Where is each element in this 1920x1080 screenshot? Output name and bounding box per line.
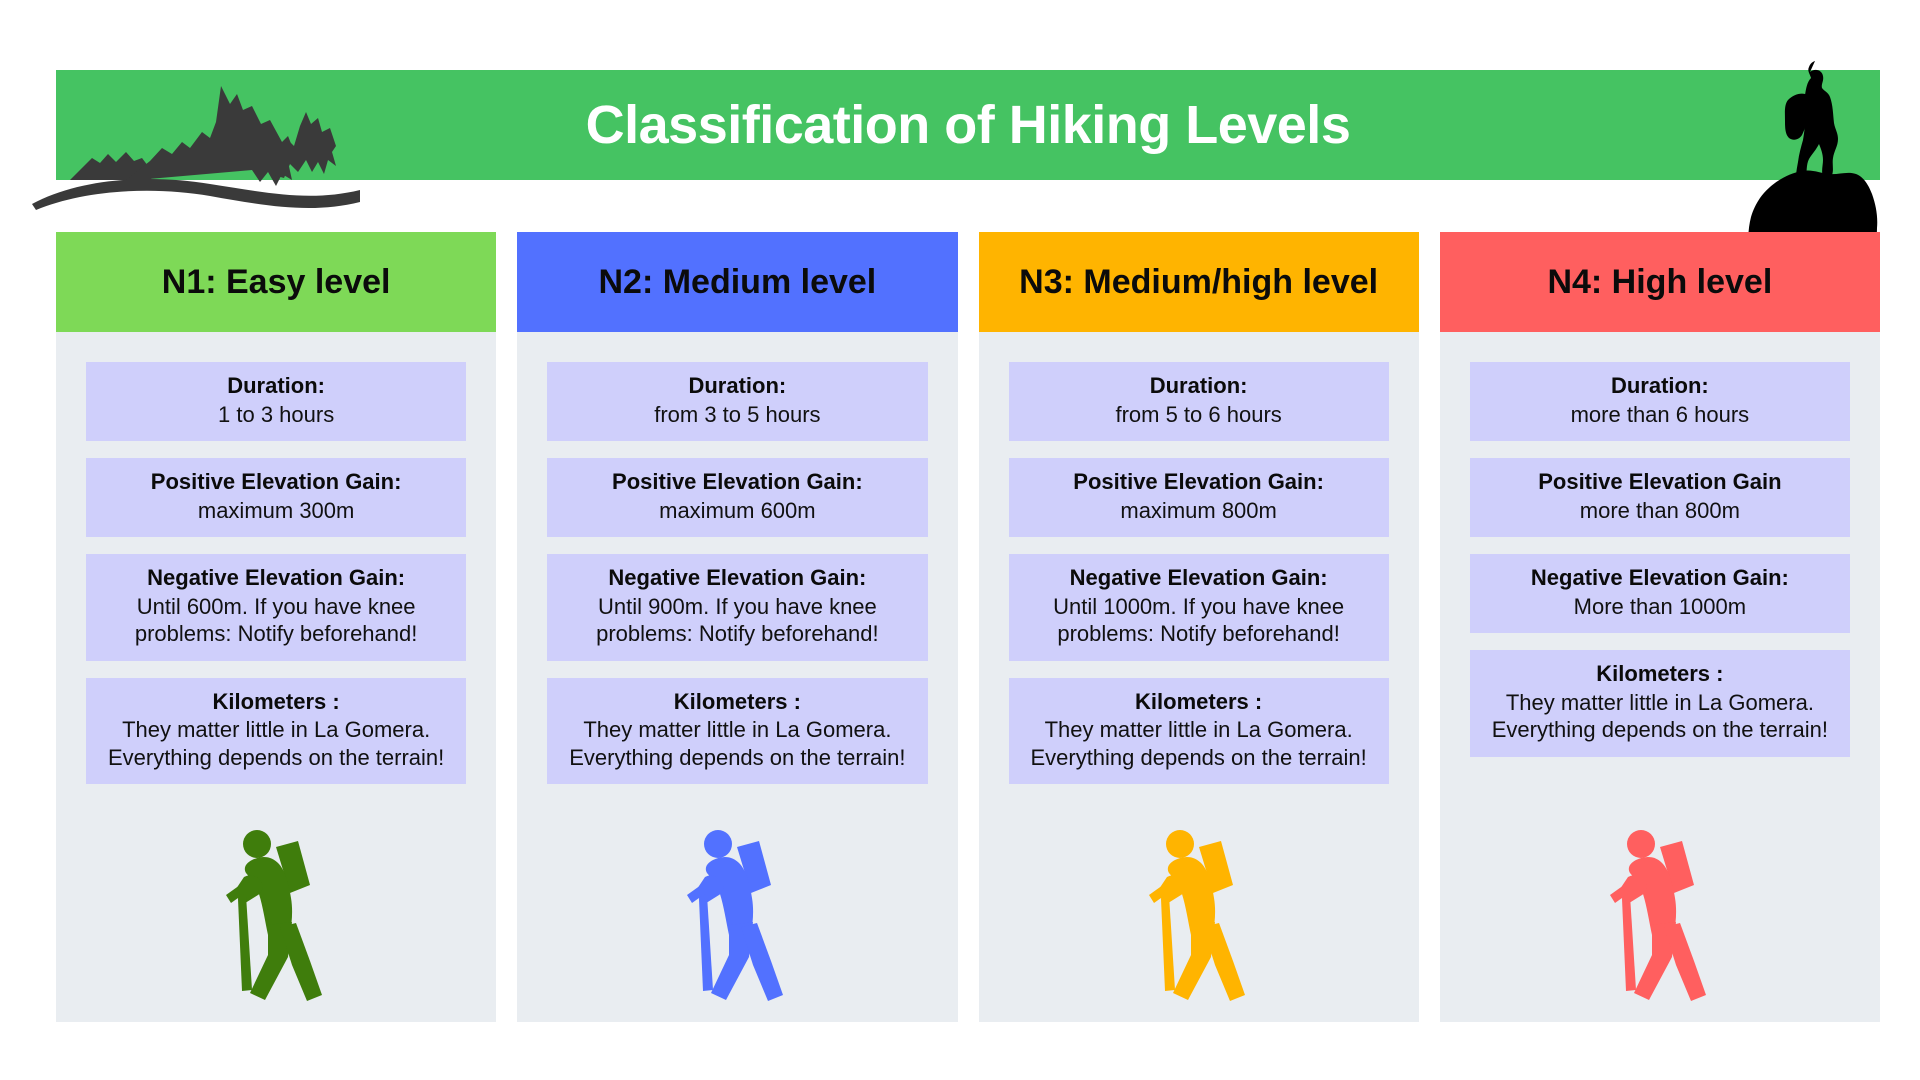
hiking-levels-infographic: Classification of Hiking Levels N1: Easy… (0, 0, 1920, 1080)
card-title: Positive Elevation Gain: (1019, 469, 1379, 496)
info-card-kilometers: Kilometers : They matter little in La Go… (86, 678, 466, 784)
header-band: Classification of Hiking Levels (56, 70, 1880, 180)
info-card-positive-elevation: Positive Elevation Gain: maximum 800m (1009, 458, 1389, 537)
card-title: Duration: (96, 373, 456, 400)
level-column-n1: N1: Easy level Duration: 1 to 3 hours Po… (56, 232, 496, 1022)
info-card-kilometers: Kilometers : They matter little in La Go… (547, 678, 927, 784)
card-text: Until 600m. If you have knee problems: N… (96, 593, 456, 648)
card-text: maximum 300m (96, 497, 456, 524)
card-text: 1 to 3 hours (96, 401, 456, 428)
card-text: maximum 800m (1019, 497, 1379, 524)
column-body-n4: Duration: more than 6 hours Positive Ele… (1440, 332, 1880, 1022)
card-text: Until 900m. If you have knee problems: N… (557, 593, 917, 648)
info-card-kilometers: Kilometers : They matter little in La Go… (1470, 650, 1850, 756)
info-card-positive-elevation: Positive Elevation Gain more than 800m (1470, 458, 1850, 537)
hiker-walking-icon (216, 829, 336, 1004)
card-text: Until 1000m. If you have knee problems: … (1019, 593, 1379, 648)
card-text: more than 6 hours (1480, 401, 1840, 428)
page-title: Classification of Hiking Levels (56, 70, 1880, 180)
card-title: Positive Elevation Gain (1480, 469, 1840, 496)
column-body-n2: Duration: from 3 to 5 hours Positive Ele… (517, 332, 957, 1022)
card-title: Positive Elevation Gain: (557, 469, 917, 496)
column-header-n1: N1: Easy level (56, 232, 496, 332)
info-card-negative-elevation: Negative Elevation Gain: Until 1000m. If… (1009, 554, 1389, 660)
card-text: They matter little in La Gomera. Everyth… (557, 716, 917, 771)
walker-area-n4 (1470, 774, 1850, 1022)
info-card-negative-elevation: Negative Elevation Gain: Until 600m. If … (86, 554, 466, 660)
info-card-negative-elevation: Negative Elevation Gain: Until 900m. If … (547, 554, 927, 660)
card-text: They matter little in La Gomera. Everyth… (1480, 689, 1840, 744)
info-card-duration: Duration: more than 6 hours (1470, 362, 1850, 441)
card-text: from 5 to 6 hours (1019, 401, 1379, 428)
hiker-walking-icon (1600, 829, 1720, 1004)
card-title: Negative Elevation Gain: (557, 565, 917, 592)
column-header-n4: N4: High level (1440, 232, 1880, 332)
hiker-walking-icon (1139, 829, 1259, 1004)
info-card-duration: Duration: from 5 to 6 hours (1009, 362, 1389, 441)
column-body-n1: Duration: 1 to 3 hours Positive Elevatio… (56, 332, 496, 1022)
card-title: Kilometers : (557, 689, 917, 716)
walker-area-n2 (547, 801, 927, 1022)
level-column-n4: N4: High level Duration: more than 6 hou… (1440, 232, 1880, 1022)
column-body-n3: Duration: from 5 to 6 hours Positive Ele… (979, 332, 1419, 1022)
card-text: More than 1000m (1480, 593, 1840, 620)
info-card-negative-elevation: Negative Elevation Gain: More than 1000m (1470, 554, 1850, 633)
walker-area-n3 (1009, 801, 1389, 1022)
hiker-walking-icon (677, 829, 797, 1004)
card-title: Negative Elevation Gain: (96, 565, 456, 592)
info-card-kilometers: Kilometers : They matter little in La Go… (1009, 678, 1389, 784)
card-title: Negative Elevation Gain: (1019, 565, 1379, 592)
level-column-n3: N3: Medium/high level Duration: from 5 t… (979, 232, 1419, 1022)
card-text: They matter little in La Gomera. Everyth… (96, 716, 456, 771)
card-title: Positive Elevation Gain: (96, 469, 456, 496)
info-card-duration: Duration: 1 to 3 hours (86, 362, 466, 441)
card-text: maximum 600m (557, 497, 917, 524)
card-text: from 3 to 5 hours (557, 401, 917, 428)
card-title: Duration: (1480, 373, 1840, 400)
walker-area-n1 (86, 801, 466, 1022)
level-column-n2: N2: Medium level Duration: from 3 to 5 h… (517, 232, 957, 1022)
card-title: Duration: (1019, 373, 1379, 400)
column-header-n2: N2: Medium level (517, 232, 957, 332)
card-title: Kilometers : (1480, 661, 1840, 688)
card-text: more than 800m (1480, 497, 1840, 524)
info-card-positive-elevation: Positive Elevation Gain: maximum 600m (547, 458, 927, 537)
info-card-positive-elevation: Positive Elevation Gain: maximum 300m (86, 458, 466, 537)
card-text: They matter little in La Gomera. Everyth… (1019, 716, 1379, 771)
levels-columns: N1: Easy level Duration: 1 to 3 hours Po… (56, 232, 1880, 1022)
card-title: Negative Elevation Gain: (1480, 565, 1840, 592)
card-title: Kilometers : (96, 689, 456, 716)
column-header-n3: N3: Medium/high level (979, 232, 1419, 332)
card-title: Duration: (557, 373, 917, 400)
card-title: Kilometers : (1019, 689, 1379, 716)
info-card-duration: Duration: from 3 to 5 hours (547, 362, 927, 441)
